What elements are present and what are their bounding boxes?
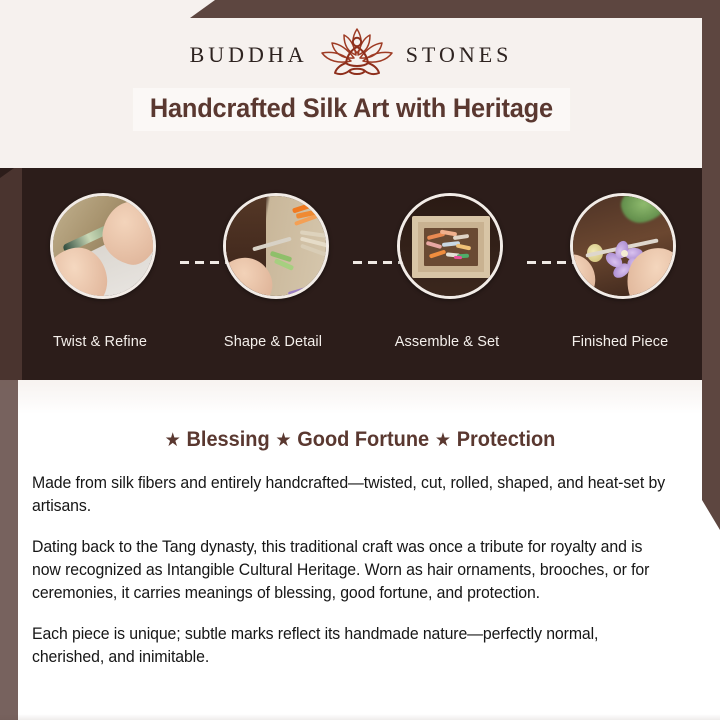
headline-container: Handcrafted Silk Art with Heritage [0,88,702,131]
step-photo-twist-refine [50,193,156,299]
step-label-4: Finished Piece [545,334,695,350]
brand-word-left: BUDDHA [190,44,308,66]
star-icon-1: ★ [165,430,181,451]
description-panel: ★Blessing★Good Fortune★Protection Made f… [0,414,720,720]
description-paragraph-1: Made from silk fibers and entirely handc… [32,472,666,518]
description-paragraph-3: Each piece is unique; subtle marks refle… [32,623,666,669]
benefit-label-2: Good Fortune [297,428,429,451]
step-label-2: Shape & Detail [198,334,348,350]
step-label-1: Twist & Refine [25,334,175,350]
description-paragraphs: Made from silk fibers and entirely handc… [32,472,692,669]
brand-logo: BUDDHA STONES [0,24,702,86]
frame-right-bar [702,0,720,530]
step-photo-assemble-set [397,193,503,299]
description-paragraph-2: Dating back to the Tang dynasty, this tr… [32,536,666,605]
benefits-banner: ★Blessing★Good Fortune★Protection [18,428,702,452]
product-info-graphic: BUDDHA STONES Handcrafted Silk Art with [0,0,720,720]
brand-word-right: STONES [406,44,513,66]
section-divider [0,380,720,414]
step-photo-finished-piece [570,193,676,299]
frame-bottom-shadow [0,714,720,720]
benefit-label-3: Protection [457,428,556,451]
star-icon-2: ★ [275,430,291,451]
process-strip: Twist & Refine Shape & Detail [0,168,720,380]
lotus-meditation-icon [314,25,400,85]
page-title: Handcrafted Silk Art with Heritage [133,88,570,131]
step-photo-shape-detail [223,193,329,299]
frame-left-lower-bar [0,380,18,720]
benefit-label-1: Blessing [187,428,270,451]
star-icon-3: ★ [435,430,451,451]
step-label-3: Assemble & Set [372,334,522,350]
frame-left-upper-bar [0,168,22,380]
